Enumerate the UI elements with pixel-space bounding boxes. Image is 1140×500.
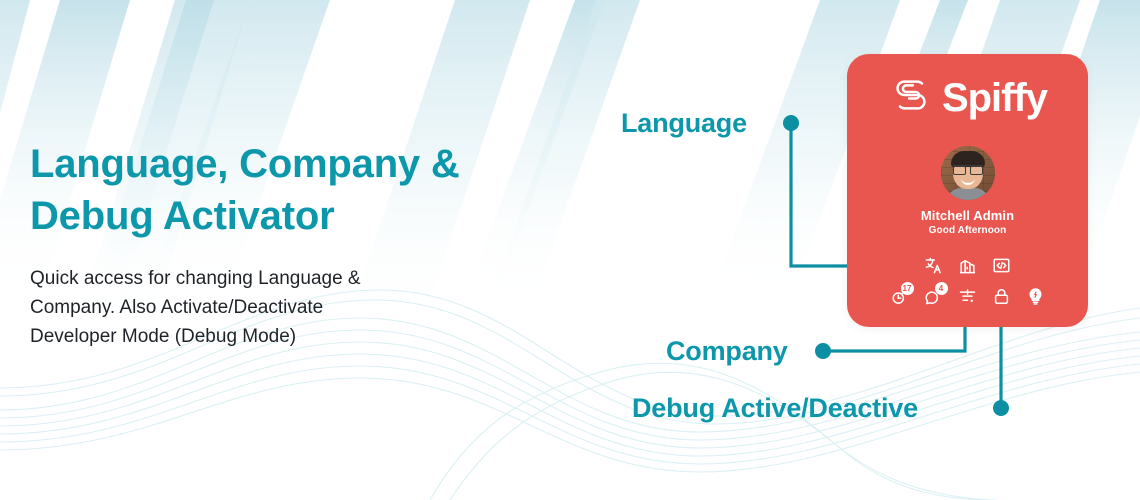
- chat-badge-count: 4: [935, 282, 948, 295]
- lock-icon[interactable]: [992, 286, 1012, 306]
- user-name: Mitchell Admin: [847, 208, 1088, 223]
- connector-dot-debug: [993, 400, 1009, 416]
- brand-name: Spiffy: [942, 78, 1047, 118]
- filter-settings-icon[interactable]: [958, 286, 978, 306]
- user-greeting: Good Afternoon: [847, 225, 1088, 236]
- spiffy-user-menu-card: Spiffy Mitchell Admin Good Afternoon: [847, 54, 1088, 327]
- code-debug-icon[interactable]: [992, 255, 1012, 275]
- connector-dot-company: [815, 343, 831, 359]
- chat-message-icon[interactable]: 4: [924, 286, 944, 306]
- connector-dot-language: [783, 115, 799, 131]
- timer-activity-icon[interactable]: 17: [890, 286, 910, 306]
- promo-banner: Language, Company & Debug Activator Quic…: [0, 0, 1140, 500]
- company-building-icon[interactable]: [958, 255, 978, 275]
- quick-action-icon-row-top: [847, 255, 1088, 275]
- brand-row: Spiffy: [847, 72, 1088, 123]
- spiffy-paperclip-s-logo-icon: [888, 72, 934, 123]
- translate-language-icon[interactable]: [924, 255, 944, 275]
- quick-action-icon-row-bottom: 17 4: [847, 286, 1088, 306]
- user-block: Mitchell Admin Good Afternoon: [847, 146, 1088, 236]
- timer-badge-count: 17: [901, 282, 914, 295]
- lightbulb-tips-icon[interactable]: [1026, 286, 1046, 306]
- avatar[interactable]: [941, 146, 995, 200]
